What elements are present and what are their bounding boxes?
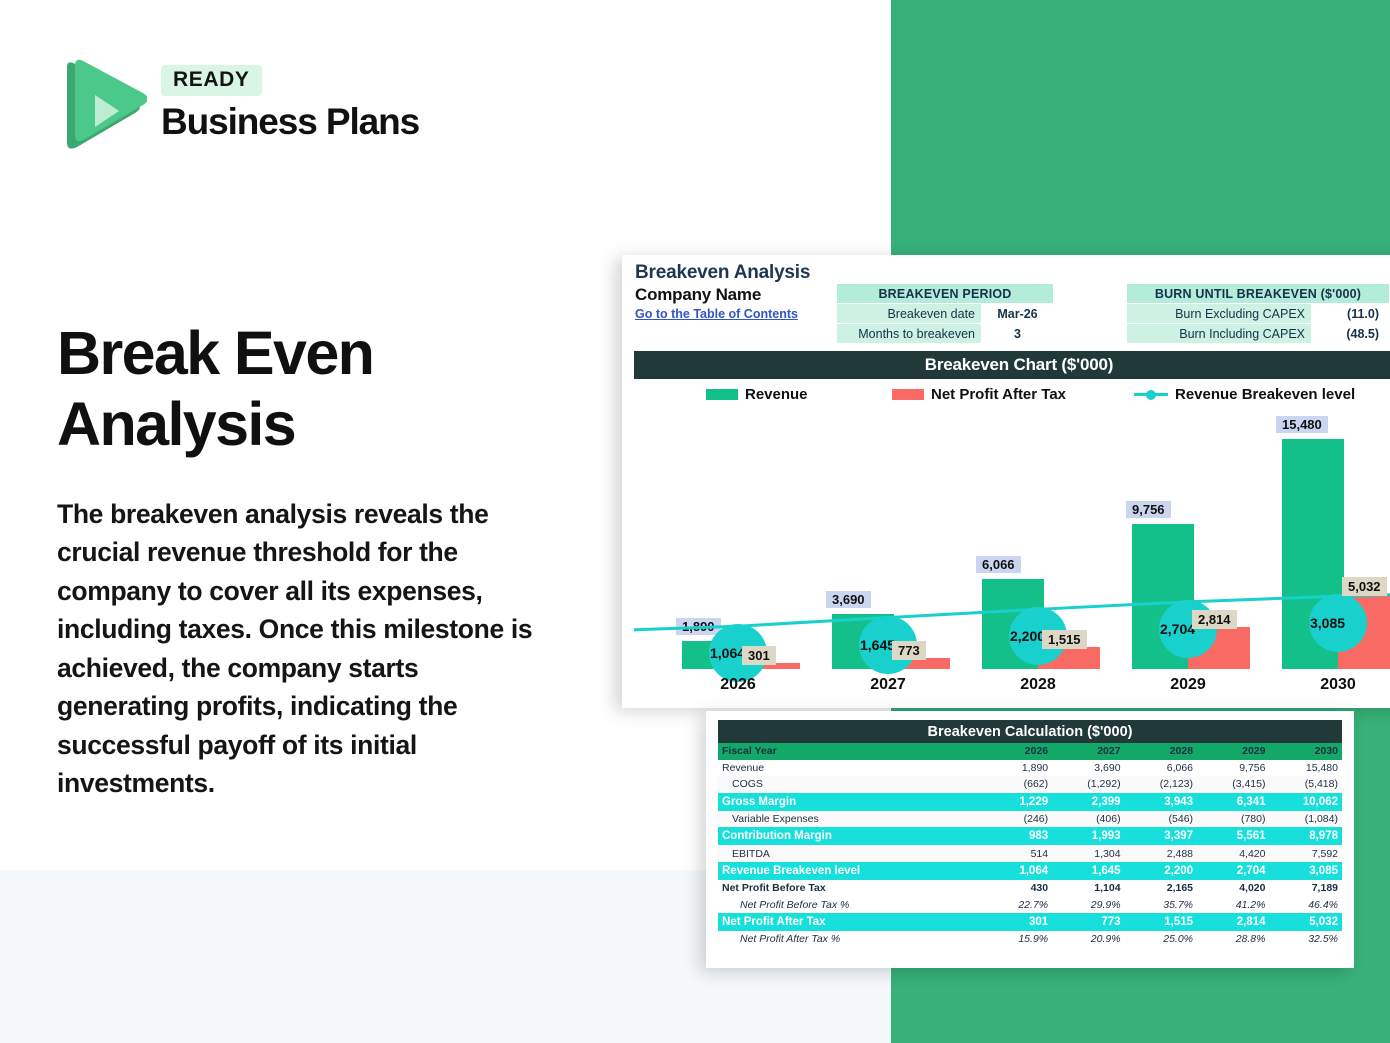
npat-value-label-2028: 1,515 — [1042, 630, 1087, 649]
row-label: Variable Expenses — [718, 811, 980, 828]
cell-2029: 4,420 — [1197, 845, 1269, 862]
cell-2027: 2,399 — [1052, 793, 1124, 811]
cell-2026: 22.7% — [980, 897, 1052, 914]
burn-header: BURN UNTIL BREAKEVEN ($'000) — [1127, 284, 1390, 304]
brand-logo[interactable]: READY Business Plans — [57, 57, 437, 157]
chart-plot-area: 1,8903011,0643,6907731,6456,0661,5152,20… — [634, 412, 1390, 669]
legend-swatch-icon — [892, 389, 924, 400]
cell-2026: (246) — [980, 811, 1052, 828]
brand-logo-text: READY Business Plans — [161, 65, 419, 143]
cell-2026: 1,229 — [980, 793, 1052, 811]
table-row: Revenue Breakeven level1,0641,6452,2002,… — [718, 862, 1342, 880]
breakeven-period-header: BREAKEVEN PERIOD — [837, 284, 1054, 304]
column-header-2028: 2028 — [1125, 743, 1197, 760]
breakeven-date-value[interactable]: Mar-26 — [982, 304, 1054, 324]
slide-root: READY Business Plans Break Even Analysis… — [0, 0, 1390, 1043]
legend-label: Net Profit After Tax — [931, 386, 1066, 403]
breakeven-value-label-2026: 1,064 — [710, 645, 745, 661]
column-header-2029: 2029 — [1197, 743, 1269, 760]
table-row: Net Profit Before Tax %22.7%29.9%35.7%41… — [718, 897, 1342, 914]
cell-2026: 1,064 — [980, 862, 1052, 880]
revenue-value-label-2030: 15,480 — [1276, 416, 1328, 433]
legend-item-revenue[interactable]: Revenue — [706, 386, 808, 403]
cell-2030: 8,978 — [1269, 827, 1342, 845]
cell-2028: 6,066 — [1125, 760, 1197, 777]
sheet-company-name: Company Name — [635, 285, 761, 305]
row-label: Revenue Breakeven level — [718, 862, 980, 880]
row-label: Gross Margin — [718, 793, 980, 811]
npat-value-label-2026: 301 — [742, 646, 776, 665]
cell-2030: 5,032 — [1269, 913, 1342, 931]
cell-2026: 514 — [980, 845, 1052, 862]
cell-2026: 1,890 — [980, 760, 1052, 777]
cell-2027: 20.9% — [1052, 931, 1124, 948]
cell-2029: (780) — [1197, 811, 1269, 828]
chart-x-axis: 20262027202820292030 — [634, 676, 1390, 702]
chart-title: Breakeven Chart ($'000) — [634, 351, 1390, 379]
row-label: Contribution Margin — [718, 827, 980, 845]
legend-label: Revenue Breakeven level — [1175, 386, 1355, 403]
breakeven-value-label-2028: 2,200 — [1010, 628, 1045, 644]
x-axis-tick-2026: 2026 — [668, 676, 808, 694]
table-row: Burn Excluding CAPEX (11.0) — [1127, 304, 1390, 324]
x-axis-tick-2029: 2029 — [1118, 676, 1258, 694]
play-triangle-logo-icon — [57, 57, 147, 152]
bar-group-2029: 9,7562,8142,704 — [1116, 439, 1256, 669]
row-label: Net Profit After Tax — [718, 913, 980, 931]
bar-group-2027: 3,6907731,645 — [816, 439, 956, 669]
legend-label: Revenue — [745, 386, 808, 403]
cell-2027: 29.9% — [1052, 897, 1124, 914]
table-row: Contribution Margin9831,9933,3975,5618,9… — [718, 827, 1342, 845]
cell-2027: (1,292) — [1052, 776, 1124, 793]
table-header-row: Fiscal Year20262027202820292030 — [718, 743, 1342, 760]
bar-group-2026: 1,8903011,064 — [666, 439, 806, 669]
breakeven-value-label-2027: 1,645 — [860, 637, 895, 653]
table-row: Months to breakeven 3 — [837, 324, 1054, 344]
cell-2027: 1,645 — [1052, 862, 1124, 880]
cell-2027: 1,304 — [1052, 845, 1124, 862]
cell-2029: 28.8% — [1197, 931, 1269, 948]
table-row: Breakeven date Mar-26 — [837, 304, 1054, 324]
page-description: The breakeven analysis reveals the cruci… — [57, 495, 547, 802]
column-header-2027: 2027 — [1052, 743, 1124, 760]
months-to-breakeven-label: Months to breakeven — [837, 324, 982, 344]
cell-2030: 15,480 — [1269, 760, 1342, 777]
cell-2027: 1,993 — [1052, 827, 1124, 845]
cell-2028: 35.7% — [1125, 897, 1197, 914]
breakeven-value-label-2030: 3,085 — [1310, 615, 1345, 631]
cell-2030: 10,062 — [1269, 793, 1342, 811]
brand-name: Business Plans — [161, 101, 419, 143]
cell-2027: 3,690 — [1052, 760, 1124, 777]
cell-2029: 6,341 — [1197, 793, 1269, 811]
cell-2029: 41.2% — [1197, 897, 1269, 914]
column-header-2026: 2026 — [980, 743, 1052, 760]
table-of-contents-link[interactable]: Go to the Table of Contents — [635, 307, 798, 321]
burn-including-capex-label: Burn Including CAPEX — [1127, 324, 1312, 344]
cell-2028: 2,200 — [1125, 862, 1197, 880]
table-row: EBITDA5141,3042,4884,4207,592 — [718, 845, 1342, 862]
table-row: Gross Margin1,2292,3993,9436,34110,062 — [718, 793, 1342, 811]
legend-swatch-icon — [706, 389, 738, 400]
cell-2028: 1,515 — [1125, 913, 1197, 931]
breakeven-calculation-panel: Breakeven Calculation ($'000) Fiscal Yea… — [706, 711, 1354, 968]
cell-2027: 773 — [1052, 913, 1124, 931]
cell-2026: 301 — [980, 913, 1052, 931]
months-to-breakeven-value[interactable]: 3 — [982, 324, 1054, 344]
npat-value-label-2030: 5,032 — [1342, 577, 1387, 596]
cell-2030: 3,085 — [1269, 862, 1342, 880]
column-header-fiscal-year: Fiscal Year — [718, 743, 980, 760]
ready-badge: READY — [161, 65, 262, 96]
cell-2028: (546) — [1125, 811, 1197, 828]
x-axis-tick-2027: 2027 — [818, 676, 958, 694]
legend-line-marker-icon — [1134, 389, 1168, 400]
cell-2029: 2,814 — [1197, 913, 1269, 931]
breakeven-calculation-table: Fiscal Year20262027202820292030 Revenue1… — [718, 743, 1342, 948]
cell-2026: 430 — [980, 880, 1052, 897]
cell-2028: 3,943 — [1125, 793, 1197, 811]
bar-group-2030: 15,4805,0323,085 — [1266, 439, 1390, 669]
legend-item-net-profit-after-tax[interactable]: Net Profit After Tax — [892, 386, 1066, 403]
column-header-2030: 2030 — [1269, 743, 1342, 760]
row-label: EBITDA — [718, 845, 980, 862]
table-row: COGS(662)(1,292)(2,123)(3,415)(5,418) — [718, 776, 1342, 793]
cell-2026: (662) — [980, 776, 1052, 793]
cell-2030: 46.4% — [1269, 897, 1342, 914]
revenue-value-label-2027: 3,690 — [826, 591, 871, 608]
table-row: Net Profit After Tax %15.9%20.9%25.0%28.… — [718, 931, 1342, 948]
table-row: Net Profit Before Tax4301,1042,1654,0207… — [718, 880, 1342, 897]
bar-group-2028: 6,0661,5152,200 — [966, 439, 1106, 669]
page-title: Break Even Analysis — [57, 318, 577, 460]
cell-2028: 25.0% — [1125, 931, 1197, 948]
burn-excluding-capex-label: Burn Excluding CAPEX — [1127, 304, 1312, 324]
chart-legend: RevenueNet Profit After TaxRevenue Break… — [634, 381, 1390, 407]
breakeven-period-table: BREAKEVEN PERIOD Breakeven date Mar-26 M… — [836, 283, 1054, 344]
cell-2026: 15.9% — [980, 931, 1052, 948]
legend-item-revenue-breakeven-level[interactable]: Revenue Breakeven level — [1134, 386, 1355, 403]
burn-including-capex-value[interactable]: (48.5) — [1312, 324, 1390, 344]
revenue-value-label-2026: 1,890 — [676, 618, 721, 635]
cell-2028: 3,397 — [1125, 827, 1197, 845]
row-label: Revenue — [718, 760, 980, 777]
cell-2027: (406) — [1052, 811, 1124, 828]
breakeven-value-label-2029: 2,704 — [1160, 621, 1195, 637]
row-label: Net Profit After Tax % — [718, 931, 980, 948]
x-axis-tick-2028: 2028 — [968, 676, 1108, 694]
table-row: Variable Expenses(246)(406)(546)(780)(1,… — [718, 811, 1342, 828]
row-label: Net Profit Before Tax — [718, 880, 980, 897]
npat-value-label-2029: 2,814 — [1192, 610, 1237, 629]
x-axis-tick-2030: 2030 — [1268, 676, 1390, 694]
calc-table-title: Breakeven Calculation ($'000) — [718, 720, 1342, 743]
cell-2027: 1,104 — [1052, 880, 1124, 897]
sheet-title: Breakeven Analysis — [635, 262, 810, 284]
cell-2030: (1,084) — [1269, 811, 1342, 828]
table-row: Revenue1,8903,6906,0669,75615,480 — [718, 760, 1342, 777]
burn-excluding-capex-value[interactable]: (11.0) — [1312, 304, 1390, 324]
cell-2030: (5,418) — [1269, 776, 1342, 793]
npat-value-label-2027: 773 — [892, 641, 926, 660]
cell-2026: 983 — [980, 827, 1052, 845]
cell-2029: 5,561 — [1197, 827, 1269, 845]
revenue-value-label-2028: 6,066 — [976, 556, 1021, 573]
cell-2030: 7,189 — [1269, 880, 1342, 897]
row-label: COGS — [718, 776, 980, 793]
table-row: Net Profit After Tax3017731,5152,8145,03… — [718, 913, 1342, 931]
cell-2028: (2,123) — [1125, 776, 1197, 793]
cell-2029: 9,756 — [1197, 760, 1269, 777]
breakeven-date-label: Breakeven date — [837, 304, 982, 324]
cell-2028: 2,488 — [1125, 845, 1197, 862]
cell-2030: 32.5% — [1269, 931, 1342, 948]
revenue-value-label-2029: 9,756 — [1126, 501, 1171, 518]
row-label: Net Profit Before Tax % — [718, 897, 980, 914]
cell-2029: (3,415) — [1197, 776, 1269, 793]
table-row: Burn Including CAPEX (48.5) — [1127, 324, 1390, 344]
burn-until-breakeven-table: BURN UNTIL BREAKEVEN ($'000) Burn Exclud… — [1126, 283, 1390, 344]
cell-2030: 7,592 — [1269, 845, 1342, 862]
cell-2029: 4,020 — [1197, 880, 1269, 897]
cell-2028: 2,165 — [1125, 880, 1197, 897]
cell-2029: 2,704 — [1197, 862, 1269, 880]
